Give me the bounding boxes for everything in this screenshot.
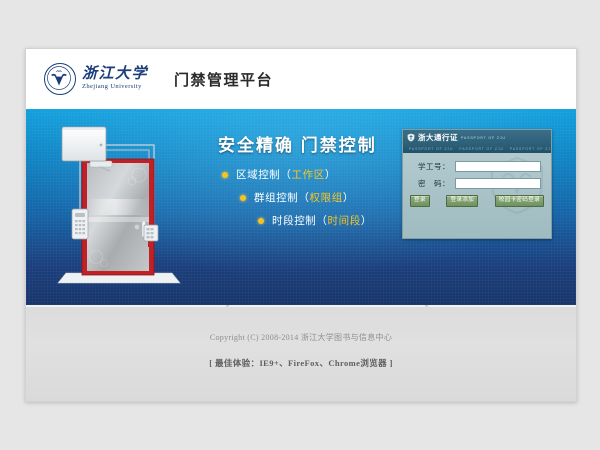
bullet-icon [222, 172, 228, 178]
logo-chinese-name: 浙江大学 [82, 67, 148, 82]
page-title: 门禁管理平台 [174, 69, 273, 90]
login-panel-titlebar: 浙大通行证 PASSPORT OF ZJU [403, 130, 551, 145]
shield-icon [407, 133, 415, 142]
login-button[interactable]: 登录 [410, 195, 430, 207]
footer-notch-right [428, 305, 576, 307]
passport-band-text-1: PASSPORT OF ZJU [403, 147, 453, 151]
bullet-icon [258, 218, 264, 224]
feature-label-area: 区域控制（工作区） [236, 167, 336, 182]
page-container: 浙江大学 Zhejiang University 门禁管理平台 [25, 48, 577, 402]
password-row: 密 码： [410, 178, 544, 189]
login-button-row: 登录 登录添加 校园卡密码登录 [410, 195, 544, 207]
feature-item-area: 区域控制（工作区） [222, 167, 372, 182]
footer-notch-center [229, 305, 425, 307]
password-label: 密 码： [410, 178, 450, 189]
bullet-icon [240, 195, 246, 201]
feature-item-timeslot: 时段控制（时间段） [258, 213, 372, 228]
username-row: 学工号： [410, 161, 544, 172]
copyright-text: Copyright (C) 2008-2014 浙江大学图书与信息中心 [26, 306, 576, 343]
campus-card-login-button[interactable]: 校园卡密码登录 [495, 195, 544, 207]
username-input[interactable] [455, 161, 541, 172]
access-control-door-illustration [44, 117, 194, 297]
password-input[interactable] [455, 178, 541, 189]
login-panel-title: 浙大通行证 [418, 132, 458, 143]
login-add-button[interactable]: 登录添加 [446, 195, 478, 207]
passport-band-text-3: PASSPORT OF ZJU [504, 147, 551, 151]
zju-emblem-icon [44, 63, 76, 95]
hero-banner: 安全精确 门禁控制 区域控制（工作区） 群组控制（权限组） 时段控制（时间段） [26, 109, 576, 305]
site-logo[interactable]: 浙江大学 Zhejiang University [44, 63, 148, 95]
passport-watermark-band: PASSPORT OF ZJU PASSPORT OF ZJU PASSPORT… [403, 145, 551, 153]
footer-notch-left [26, 305, 226, 307]
feature-label-timeslot: 时段控制（时间段） [272, 213, 372, 228]
logo-english-name: Zhejiang University [82, 84, 148, 91]
browser-support-text: [ 最佳体验：IE9+、FireFox、Chrome浏览器 ] [26, 357, 576, 369]
username-label: 学工号： [410, 161, 450, 172]
feature-label-group: 群组控制（权限组） [254, 190, 354, 205]
site-footer: Copyright (C) 2008-2014 浙江大学图书与信息中心 [ 最佳… [26, 305, 576, 402]
feature-item-group: 群组控制（权限组） [240, 190, 372, 205]
banner-headline: 安全精确 门禁控制 [218, 131, 377, 156]
login-panel-subtitle: PASSPORT OF ZJU [461, 136, 506, 140]
login-panel: 浙大通行证 PASSPORT OF ZJU PASSPORT OF ZJU PA… [402, 129, 552, 239]
feature-list: 区域控制（工作区） 群组控制（权限组） 时段控制（时间段） [222, 167, 372, 236]
passport-band-text-2: PASSPORT OF ZJU [453, 147, 503, 151]
site-header: 浙江大学 Zhejiang University 门禁管理平台 [26, 49, 576, 109]
logo-wordmark: 浙江大学 Zhejiang University [82, 67, 148, 91]
login-form: 学工号： 密 码： 登录 登录添加 校园卡密码登录 [403, 153, 551, 207]
